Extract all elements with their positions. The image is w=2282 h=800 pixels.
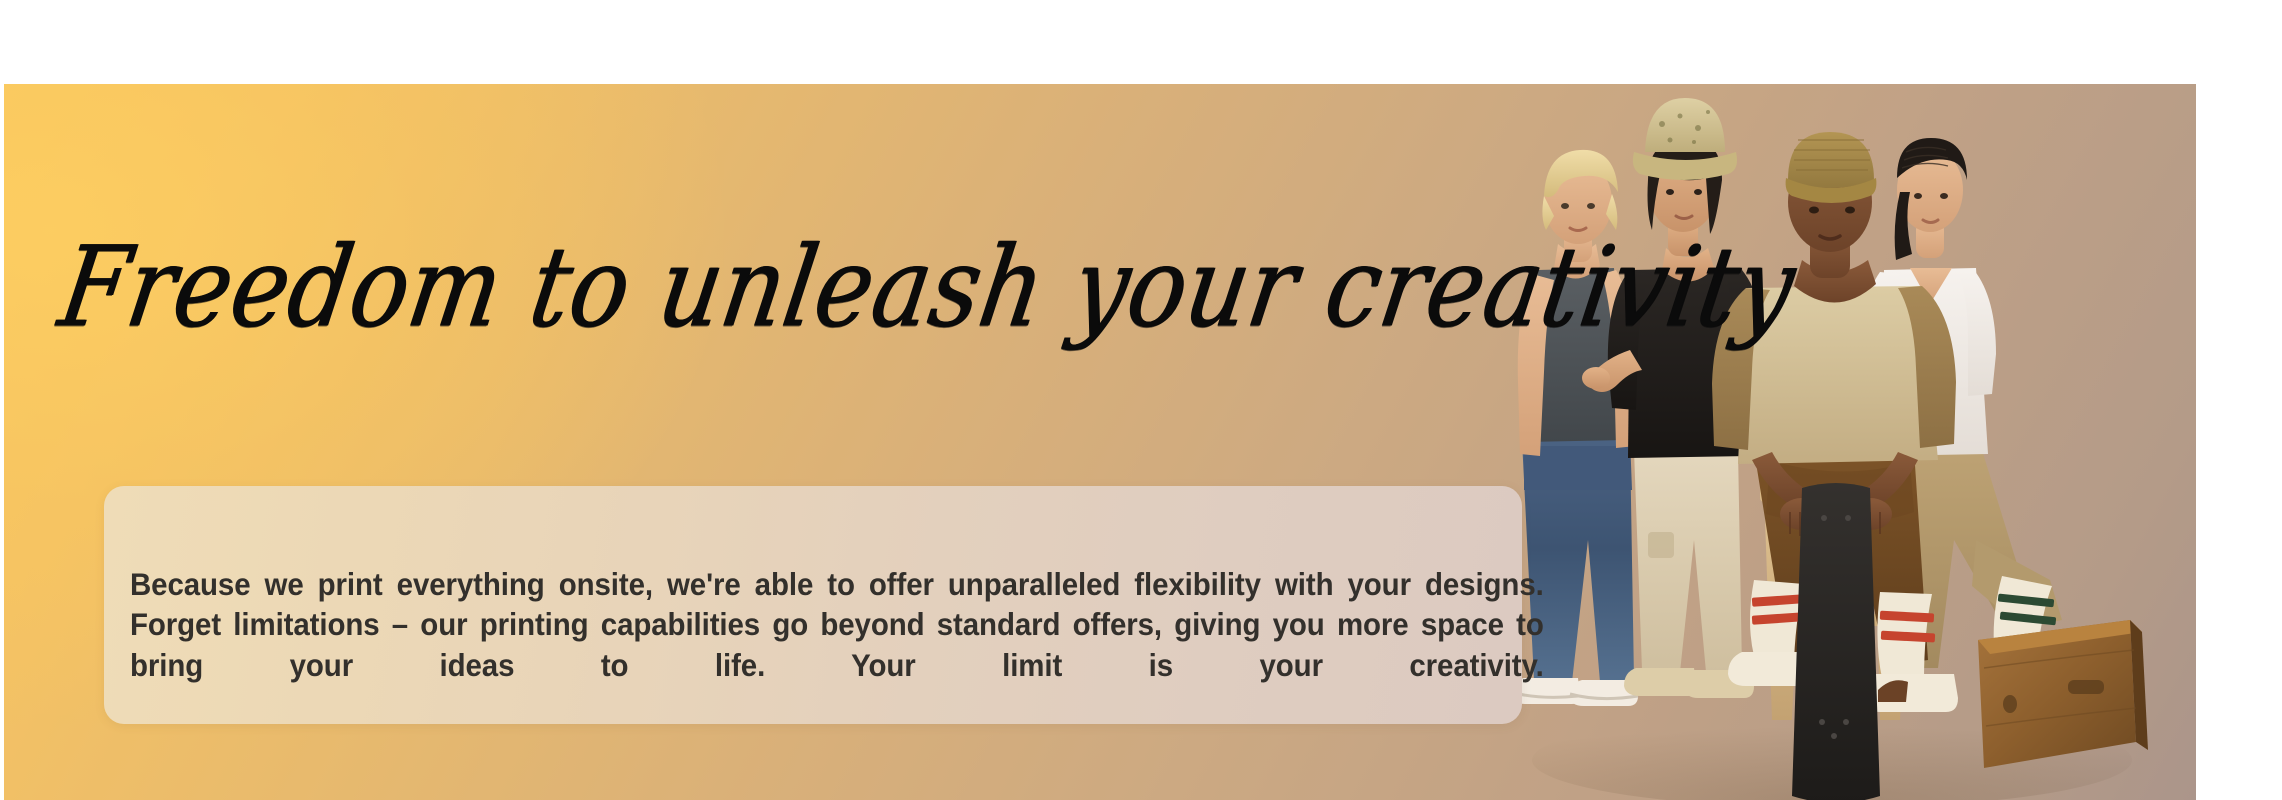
bucket-hat: [1645, 98, 1725, 152]
model-bucket-hat-man: [1582, 98, 1766, 698]
wooden-crate: [1978, 620, 2148, 768]
hero-banner: Freedom to unleash your creativity Becau…: [4, 84, 2196, 800]
wooden-stool: [1760, 486, 1914, 720]
model-seated-man: [1712, 132, 1958, 712]
model-white-tee-woman: [1826, 138, 2072, 672]
hero-info-card: Because we print everything onsite, we'r…: [104, 486, 1522, 724]
hero-photo-group: [1502, 84, 2196, 800]
hero-body-text: Because we print everything onsite, we'r…: [130, 564, 1544, 726]
hero-headline: Freedom to unleash your creativity: [53, 231, 1674, 342]
skateboard: [1792, 483, 1880, 800]
page-root: Freedom to unleash your creativity Becau…: [0, 0, 2282, 800]
beanie: [1788, 132, 1874, 188]
floor-shadow: [1532, 712, 2132, 800]
